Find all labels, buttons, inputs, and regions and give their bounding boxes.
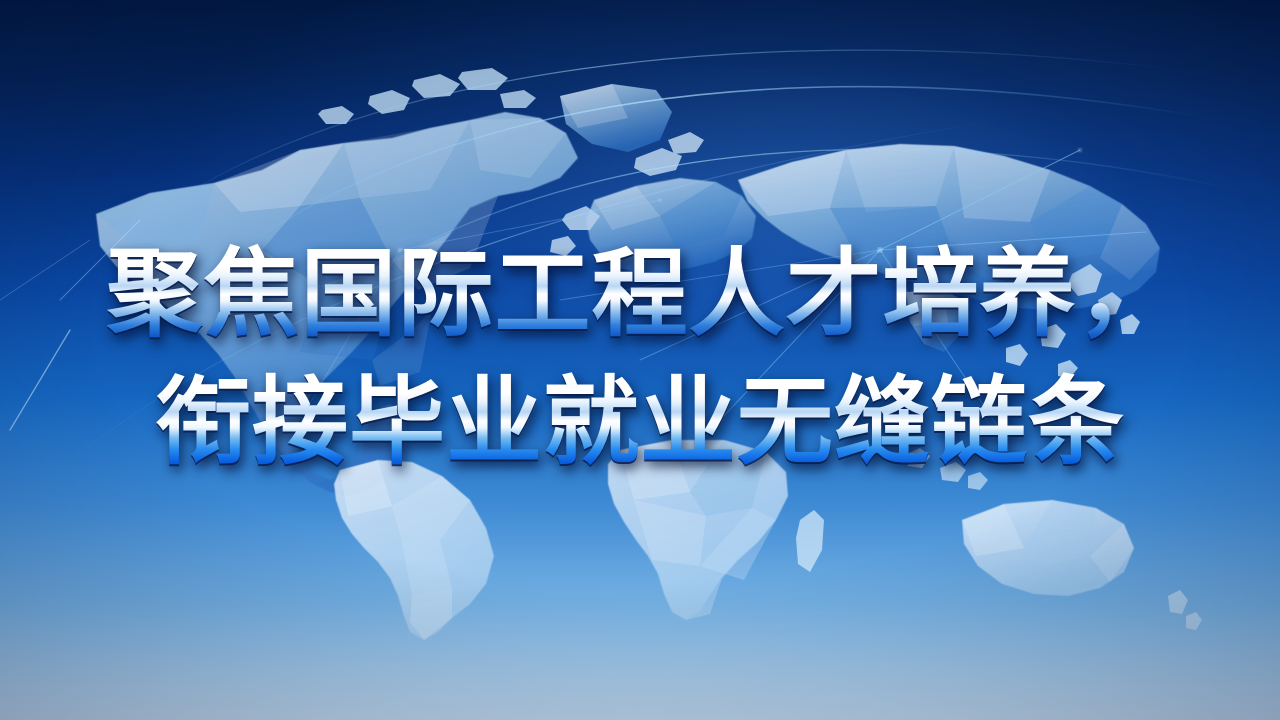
title-card-slide: 聚焦国际工程人才培养， 聚焦国际工程人才培养， 聚焦国际工程人才培养， 衔接毕业… <box>0 0 1280 720</box>
background-vignette <box>0 0 1280 720</box>
